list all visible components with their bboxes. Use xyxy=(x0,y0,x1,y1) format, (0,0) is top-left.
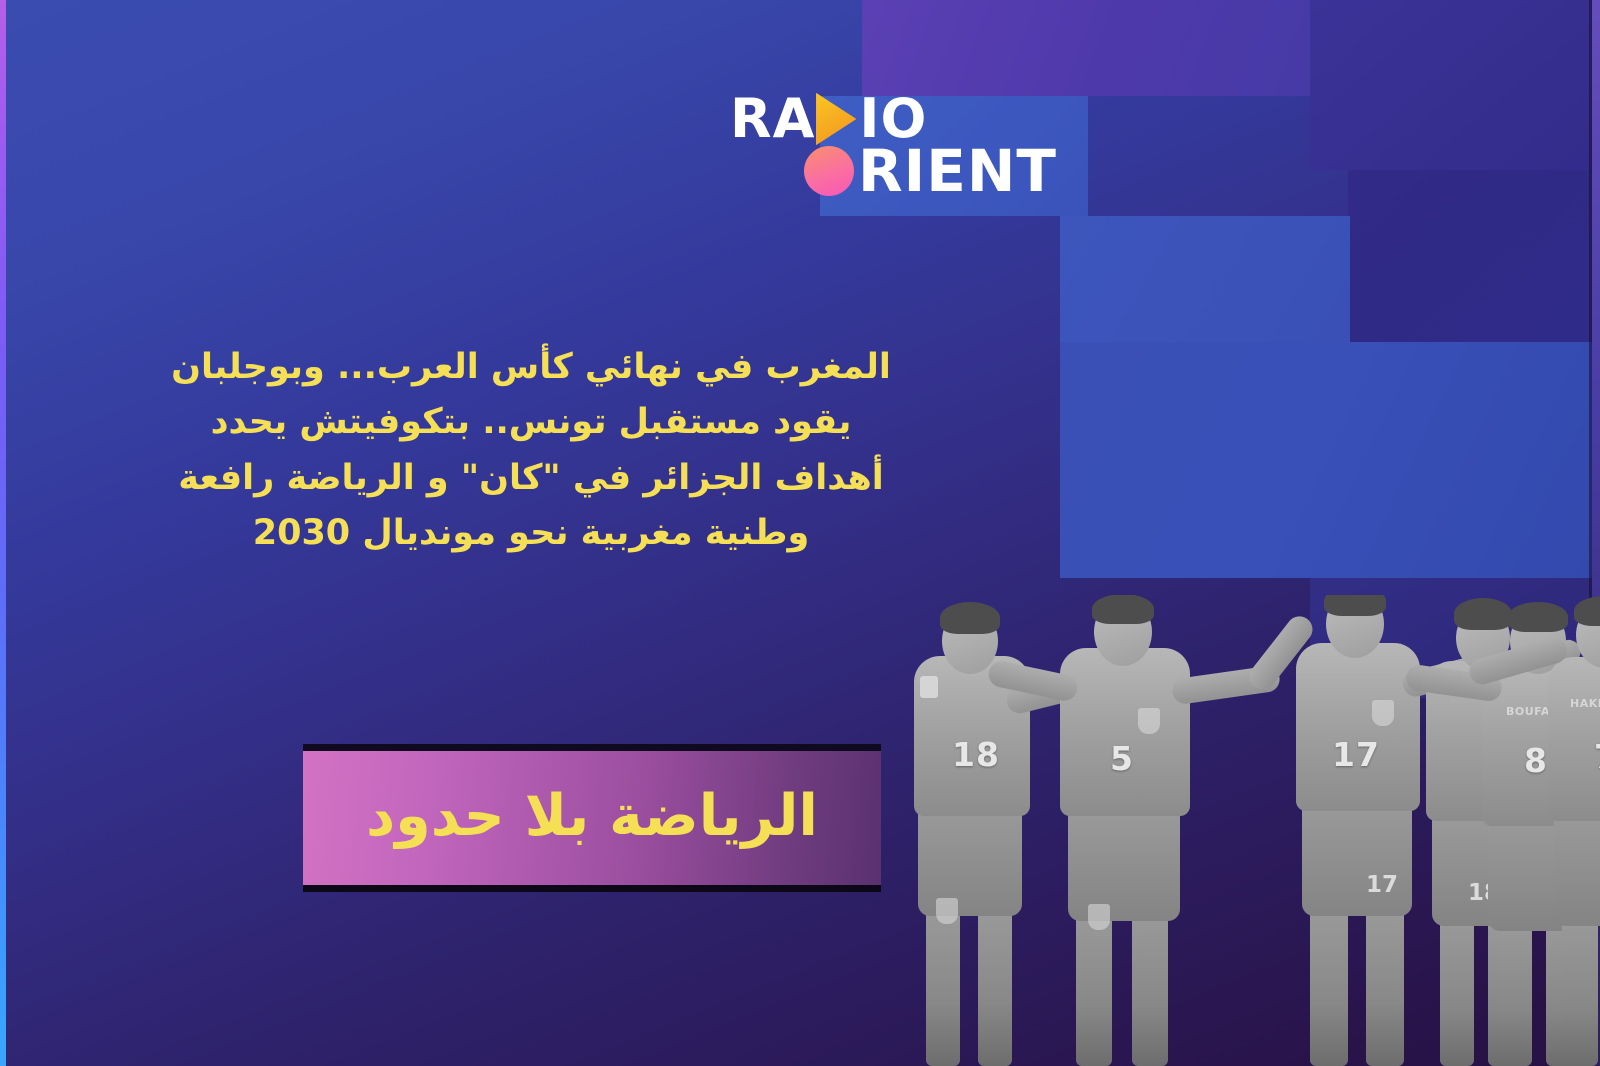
logo-line-orient: RIENT xyxy=(804,142,1057,200)
player-number: 7 xyxy=(1594,737,1600,776)
player-figure: HAKIMI 7 7 xyxy=(1530,616,1600,1066)
decor-block-dark-upper xyxy=(1310,0,1592,170)
decor-block-blue-wide xyxy=(1060,216,1350,342)
player-number: 5 xyxy=(1110,739,1134,778)
poster-canvas: RA IO RIENT المغرب في نهائي كأس العرب...… xyxy=(0,0,1600,1066)
player-figure: 5 xyxy=(1040,616,1210,1066)
play-triangle-icon xyxy=(816,93,856,145)
player-shorts-number: 17 xyxy=(1366,872,1398,898)
players-photo: 18 5 17 17 xyxy=(880,595,1600,1066)
headline-text: المغرب في نهائي كأس العرب... وبوجلبان يق… xyxy=(150,340,912,561)
player-number: 18 xyxy=(952,735,1000,774)
pink-circle-icon xyxy=(804,146,854,196)
logo-text-rient: RIENT xyxy=(858,142,1057,200)
logo-text-ra: RA xyxy=(730,92,815,146)
player-name: HAKIMI xyxy=(1570,697,1600,710)
left-edge-stripe xyxy=(0,0,6,1066)
slogan-banner: الرياضة بلا حدود xyxy=(303,744,881,892)
decor-block-blue-lower xyxy=(1060,342,1592,578)
player-number: 17 xyxy=(1332,735,1380,774)
decor-block-purple-top xyxy=(862,0,1310,96)
radio-orient-logo: RA IO RIENT xyxy=(722,92,1082,210)
decor-block-dark-right xyxy=(1348,170,1592,342)
slogan-text: الرياضة بلا حدود xyxy=(366,788,818,849)
